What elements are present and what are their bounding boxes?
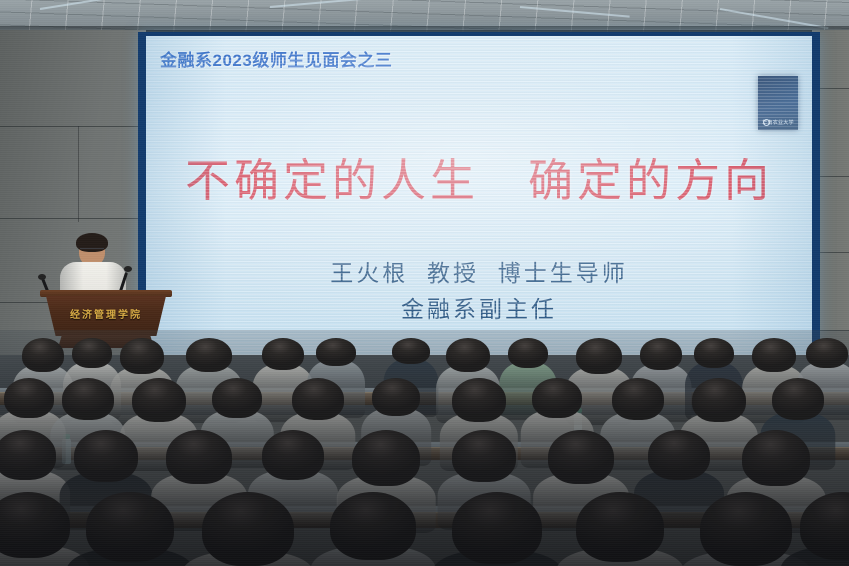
audience-member-head [372,378,420,416]
audience-member-head [806,338,848,368]
audience-member-head [22,338,64,372]
slide-speaker-line: 王火根 教授 博士生导师 [146,254,812,288]
audience-member [800,492,849,566]
audience-member-head [452,430,516,482]
audience-member-head [62,378,114,420]
audience-member [330,492,416,566]
microphone-right-head-icon [124,266,132,272]
audience-member-head [352,430,420,486]
audience-member-head [74,430,138,482]
audience-member [576,492,664,566]
audience-member-head [640,338,682,370]
audience-member-head [316,338,356,366]
audience-member-head [120,338,164,374]
podium-sign-text: 经济管理学院 [42,306,170,321]
audience-member-head [392,338,430,364]
audience-member-head [532,378,582,418]
audience-member-head [292,378,344,420]
audience-member-head [212,378,262,418]
audience-member-head [576,338,622,374]
projection-screen: 金融系2023级师生见面会之三 不确定的人生 确定的方向 王火根 教授 博士生导… [146,36,812,358]
audience-member-head [742,430,810,486]
audience-member-head [576,492,664,562]
audience-member [452,492,542,566]
audience-member-head [700,492,792,566]
slide-role-line: 金融系副主任 [146,290,812,324]
audience: LEIS [0,330,849,566]
audience-member [0,492,70,566]
audience-member-head [548,430,614,484]
audience-member [86,492,174,566]
audience-member-head [508,338,548,368]
audience-member-head [452,492,542,564]
audience-member-head [262,338,304,370]
audience-member-head [612,378,664,420]
audience-member-head [0,492,70,558]
university-logo: 华南农业大学 [758,76,798,130]
audience-member-head [648,430,710,480]
speaker-glasses-icon [80,248,104,254]
audience-member-head [752,338,796,372]
audience-member-head [694,338,734,368]
audience-member-head [202,492,294,566]
audience-member-head [132,378,186,422]
audience-member-head [262,430,324,480]
audience-member-head [166,430,232,484]
audience-member-head [0,430,56,480]
audience-member-head [186,338,232,372]
audience-member-head [452,378,506,422]
logo-text: 华南农业大学 [758,119,798,126]
slide-header-text: 金融系2023级师生见面会之三 [160,46,392,71]
microphone-left-head-icon [38,274,46,280]
audience-member-head [86,492,174,562]
lecture-hall-photo: 金融系2023级师生见面会之三 不确定的人生 确定的方向 王火根 教授 博士生导… [0,0,849,566]
audience-member [202,492,294,566]
audience-member-head [4,378,54,418]
audience-member [700,492,792,566]
audience-member-head [72,338,112,368]
audience-member-head [330,492,416,560]
audience-member-head [692,378,746,422]
slide-main-title: 不确定的人生 确定的方向 [146,144,812,209]
audience-member-head [446,338,490,372]
audience-member-head [772,378,824,420]
podium-top [40,290,172,297]
